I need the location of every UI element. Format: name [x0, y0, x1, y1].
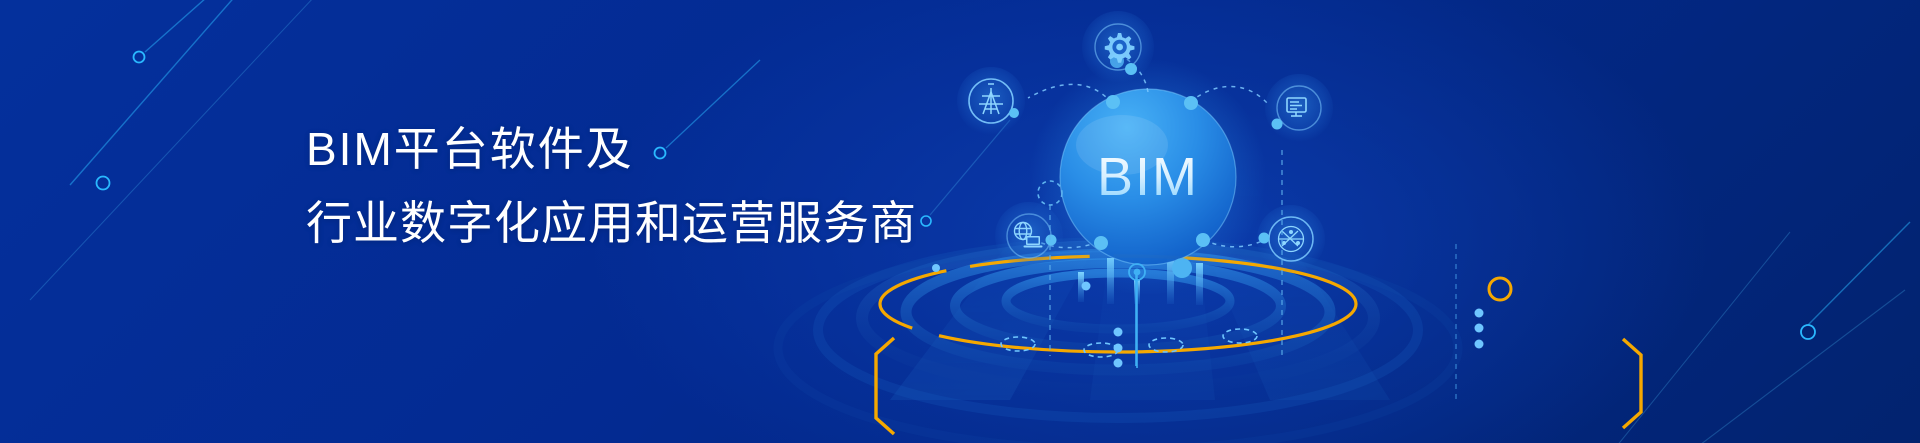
accent-dots-small — [932, 264, 1091, 291]
hero-banner: BIM平台软件及 行业数字化应用和运营服务商 BIM — [0, 0, 1920, 443]
bracket-left-icon — [876, 338, 894, 434]
markers-layer — [0, 0, 1920, 443]
headline-line-1: BIM平台软件及 — [306, 112, 917, 186]
accent-dot-large — [1172, 258, 1192, 278]
page-title: BIM平台软件及 行业数字化应用和运营服务商 — [306, 112, 917, 260]
headline-line-2: 行业数字化应用和运营服务商 — [306, 186, 917, 260]
dot-column-left — [1114, 328, 1123, 368]
sphere-label: BIM — [1097, 146, 1199, 208]
bracket-right-icon — [1623, 339, 1641, 428]
dot-column-right — [1475, 309, 1484, 349]
stem-circle-marker-left — [1129, 264, 1145, 368]
orange-circle-marker — [1489, 278, 1511, 300]
